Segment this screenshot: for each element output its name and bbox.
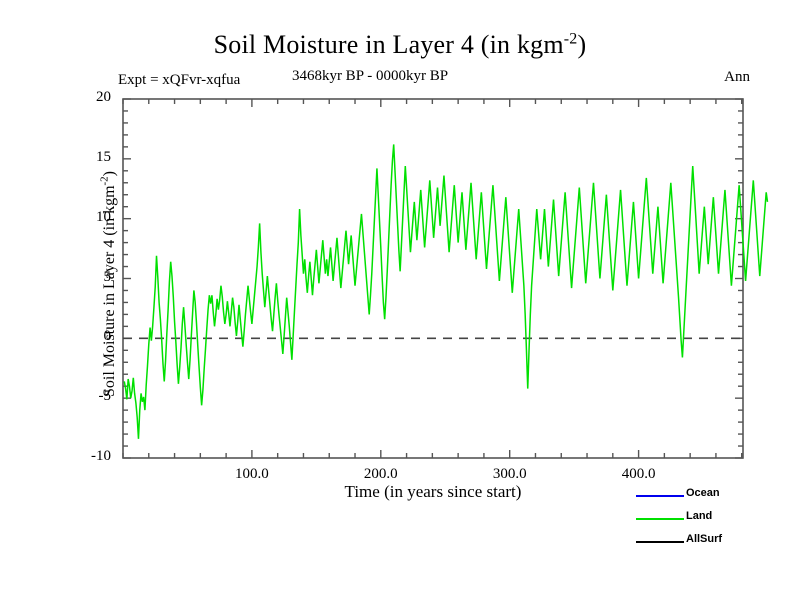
tick-marks	[123, 99, 743, 458]
legend-swatch-land	[636, 518, 684, 520]
legend-label-ocean: Ocean	[686, 487, 720, 499]
x-tick-label: 400.0	[604, 466, 674, 483]
legend-swatch-ocean	[636, 495, 684, 497]
legend-label-allsurf: AllSurf	[686, 533, 722, 545]
y-tick-label: 0	[71, 328, 111, 345]
y-tick-label: -10	[71, 448, 111, 465]
y-tick-label: 15	[71, 149, 111, 166]
axis-frame	[123, 99, 743, 458]
y-tick-label: 20	[71, 89, 111, 106]
chart-canvas: Soil Moisture in Layer 4 (in kgm-2) 3468…	[0, 0, 800, 600]
legend-label-land: Land	[686, 510, 712, 522]
legend-swatch-allsurf	[636, 541, 684, 543]
y-tick-label: 10	[71, 209, 111, 226]
x-tick-label: 200.0	[346, 466, 416, 483]
legend-item-land[interactable]: Land	[636, 510, 796, 533]
y-tick-label: 5	[71, 269, 111, 286]
legend-item-allsurf[interactable]: AllSurf	[636, 533, 796, 556]
x-tick-label: 100.0	[217, 466, 287, 483]
legend: Ocean Land AllSurf	[636, 487, 796, 556]
legend-item-ocean[interactable]: Ocean	[636, 487, 796, 510]
data-series-land	[124, 144, 767, 438]
y-tick-label: -5	[71, 388, 111, 405]
x-tick-label: 300.0	[475, 466, 545, 483]
